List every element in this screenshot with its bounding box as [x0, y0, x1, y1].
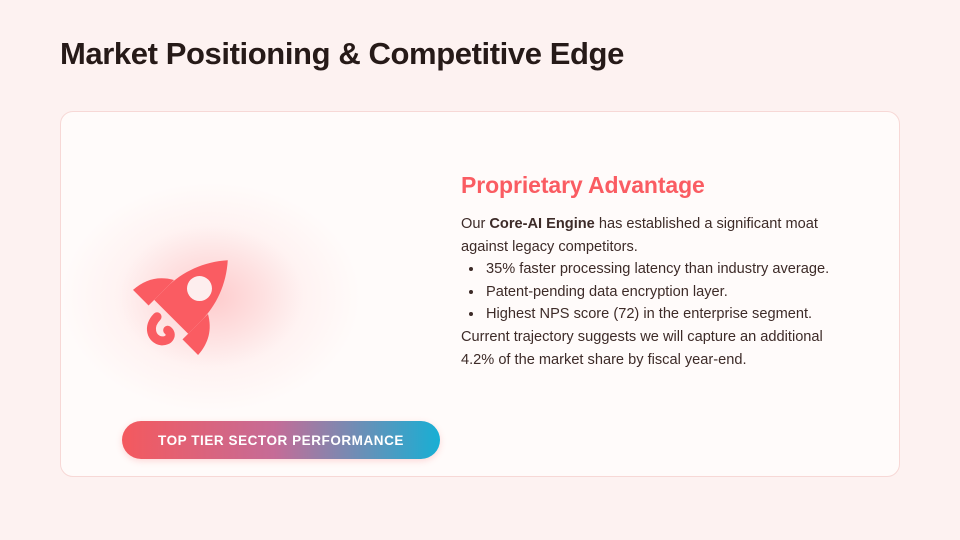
card-text-column: Proprietary Advantage Our Core-AI Engine…	[461, 112, 899, 476]
sector-performance-badge-button[interactable]: Top Tier Sector Performance	[122, 421, 440, 459]
closing-paragraph: Current trajectory suggests we will capt…	[461, 326, 851, 371]
section-heading: Proprietary Advantage	[461, 172, 851, 199]
intro-emphasis: Core-AI Engine	[489, 216, 594, 232]
rocket-icon	[131, 237, 251, 357]
intro-prefix: Our	[461, 216, 489, 232]
list-item: Highest NPS score (72) in the enterprise…	[484, 303, 851, 326]
intro-paragraph: Our Core-AI Engine has established a sig…	[461, 213, 851, 258]
card-visual-column: Top Tier Sector Performance	[61, 112, 461, 476]
list-item: Patent-pending data encryption layer.	[484, 281, 851, 304]
advantage-bullet-list: 35% faster processing latency than indus…	[461, 258, 851, 326]
feature-card: Top Tier Sector Performance Proprietary …	[60, 111, 900, 477]
page-title: Market Positioning & Competitive Edge	[60, 36, 624, 72]
list-item: 35% faster processing latency than indus…	[484, 258, 851, 281]
